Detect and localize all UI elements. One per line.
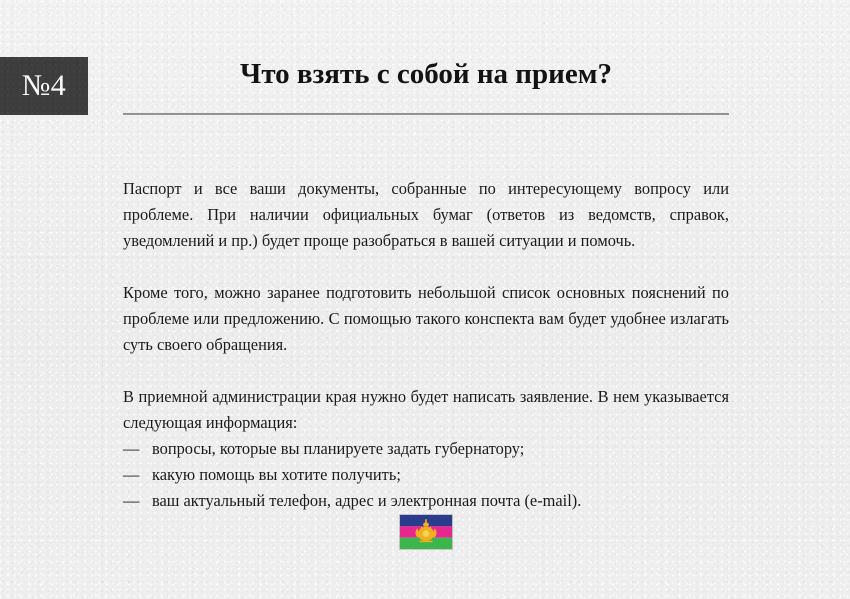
dash-marker-icon: —	[123, 488, 152, 514]
flag-graphic	[400, 515, 452, 549]
paragraph-documents: Паспорт и все ваши документы, собранные …	[123, 176, 729, 254]
title-divider	[123, 113, 729, 115]
paragraph-application-lead: В приемной администрации края нужно буде…	[123, 384, 729, 436]
list-item: — ваш актуальный телефон, адрес и электр…	[123, 488, 729, 514]
slide-number-label: №4	[22, 71, 67, 101]
application-requirements-list: — вопросы, которые вы планируете задать …	[123, 436, 729, 514]
slide-number-badge: №4	[0, 57, 88, 115]
list-item-label: какую помощь вы хотите получить;	[152, 462, 401, 488]
body-content: Паспорт и все ваши документы, собранные …	[123, 176, 729, 514]
list-item-label: ваш актуальный телефон, адрес и электрон…	[152, 488, 581, 514]
list-item: — вопросы, которые вы планируете задать …	[123, 436, 729, 462]
paragraph-notes: Кроме того, можно заранее подготовить не…	[123, 280, 729, 358]
list-item-label: вопросы, которые вы планируете задать гу…	[152, 436, 524, 462]
krasnodar-krai-flag-icon	[400, 515, 452, 549]
dash-marker-icon: —	[123, 436, 152, 462]
slide-canvas: №4 Что взять с собой на прием? Паспорт и…	[0, 0, 850, 599]
list-item: — какую помощь вы хотите получить;	[123, 462, 729, 488]
page-title: Что взять с собой на прием?	[123, 58, 729, 91]
dash-marker-icon: —	[123, 462, 152, 488]
